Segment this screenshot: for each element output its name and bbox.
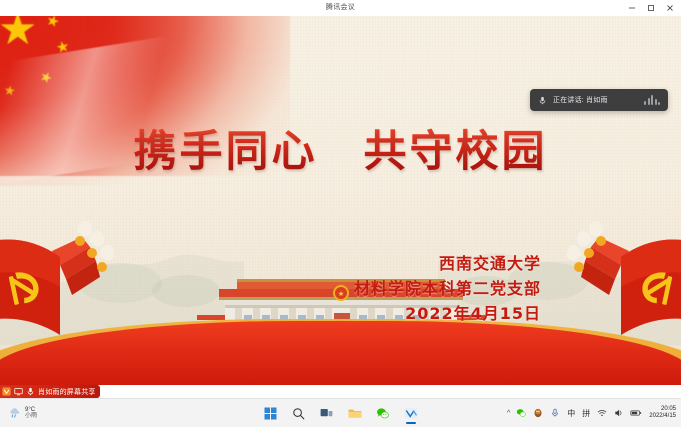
wifi-icon xyxy=(597,408,607,418)
qq-penguin-icon xyxy=(533,408,543,418)
window-controls xyxy=(622,0,679,16)
microphone-tray-icon[interactable] xyxy=(549,407,561,419)
slide-subtitle-block: 西南交通大学 材料学院本科第二党支部 2022年4月15日 xyxy=(354,252,541,326)
flag-star-small-icon: ★ xyxy=(44,16,61,31)
presentation-date: 2022年4月15日 xyxy=(354,302,541,327)
tencent-meeting-icon xyxy=(404,407,418,420)
window-titlebar: 腾讯会议 xyxy=(0,0,681,17)
department-name: 材料学院本科第二党支部 xyxy=(354,277,541,302)
windows-logo-icon xyxy=(264,407,277,420)
wechat-button[interactable] xyxy=(373,402,393,424)
start-button[interactable] xyxy=(261,402,281,424)
rain-icon xyxy=(9,407,21,419)
task-view-button[interactable] xyxy=(317,402,337,424)
tencent-meeting-icon xyxy=(2,387,11,396)
volume-tray-icon[interactable] xyxy=(613,407,625,419)
wechat-tray-icon[interactable] xyxy=(515,407,527,419)
flag-star-large-icon: ★ xyxy=(0,16,37,52)
wechat-icon xyxy=(376,407,389,420)
audio-level-indicator xyxy=(644,95,660,105)
slide-headline: 携手同心 共守校园 xyxy=(0,128,681,177)
screen-share-label: 肖如雨的屏幕共享 xyxy=(38,387,96,397)
task-view-icon xyxy=(320,407,333,420)
shared-screen-stage: ★ xyxy=(0,16,681,385)
folder-icon xyxy=(348,407,362,420)
network-tray-icon[interactable] xyxy=(596,407,608,419)
qq-tray-icon[interactable] xyxy=(532,407,544,419)
taskbar-buttons xyxy=(261,400,421,426)
maximize-icon xyxy=(647,4,655,12)
weather-condition: 小雨 xyxy=(25,413,37,419)
microphone-icon xyxy=(538,96,547,105)
taskbar-clock[interactable]: 20:05 2022/4/15 xyxy=(649,406,679,419)
party-flag-left-decoration xyxy=(0,217,136,367)
tray-overflow-button[interactable]: ^ xyxy=(507,410,510,417)
search-button[interactable] xyxy=(289,402,309,424)
windows-taskbar: 9°C 小雨 xyxy=(0,398,681,427)
maximize-button[interactable] xyxy=(641,0,660,16)
tencent-meeting-button[interactable] xyxy=(401,402,421,424)
minimize-icon xyxy=(628,4,636,12)
weather-widget[interactable]: 9°C 小雨 xyxy=(4,401,42,425)
monitor-icon xyxy=(14,387,23,396)
active-speaker-label: 正在讲话: 肖如雨 xyxy=(553,95,608,105)
ime-language-indicator[interactable]: 中 xyxy=(566,408,576,419)
organization-name: 西南交通大学 xyxy=(354,252,541,277)
microphone-icon xyxy=(26,387,35,396)
screen-share-banner[interactable]: 肖如雨的屏幕共享 xyxy=(0,385,100,398)
wechat-icon xyxy=(516,408,526,418)
party-flag-right-decoration xyxy=(545,217,681,367)
ime-input-style-indicator[interactable]: 拼 xyxy=(581,408,591,419)
minimize-button[interactable] xyxy=(622,0,641,16)
file-explorer-button[interactable] xyxy=(345,402,365,424)
svg-text:★: ★ xyxy=(337,290,343,298)
speaker-icon xyxy=(614,408,624,418)
microphone-icon xyxy=(550,408,560,418)
close-icon xyxy=(666,4,674,12)
battery-tray-icon[interactable] xyxy=(630,407,642,419)
close-button[interactable] xyxy=(660,0,679,16)
system-tray: ^ xyxy=(507,400,679,426)
active-speaker-toast: 正在讲话: 肖如雨 xyxy=(530,89,668,111)
screen: 腾讯会议 xyxy=(0,0,681,426)
clock-date: 2022/4/15 xyxy=(649,413,676,420)
search-icon xyxy=(292,407,305,420)
clock-time: 20:05 xyxy=(661,406,676,413)
battery-icon xyxy=(630,408,642,418)
window-title: 腾讯会议 xyxy=(0,0,681,16)
